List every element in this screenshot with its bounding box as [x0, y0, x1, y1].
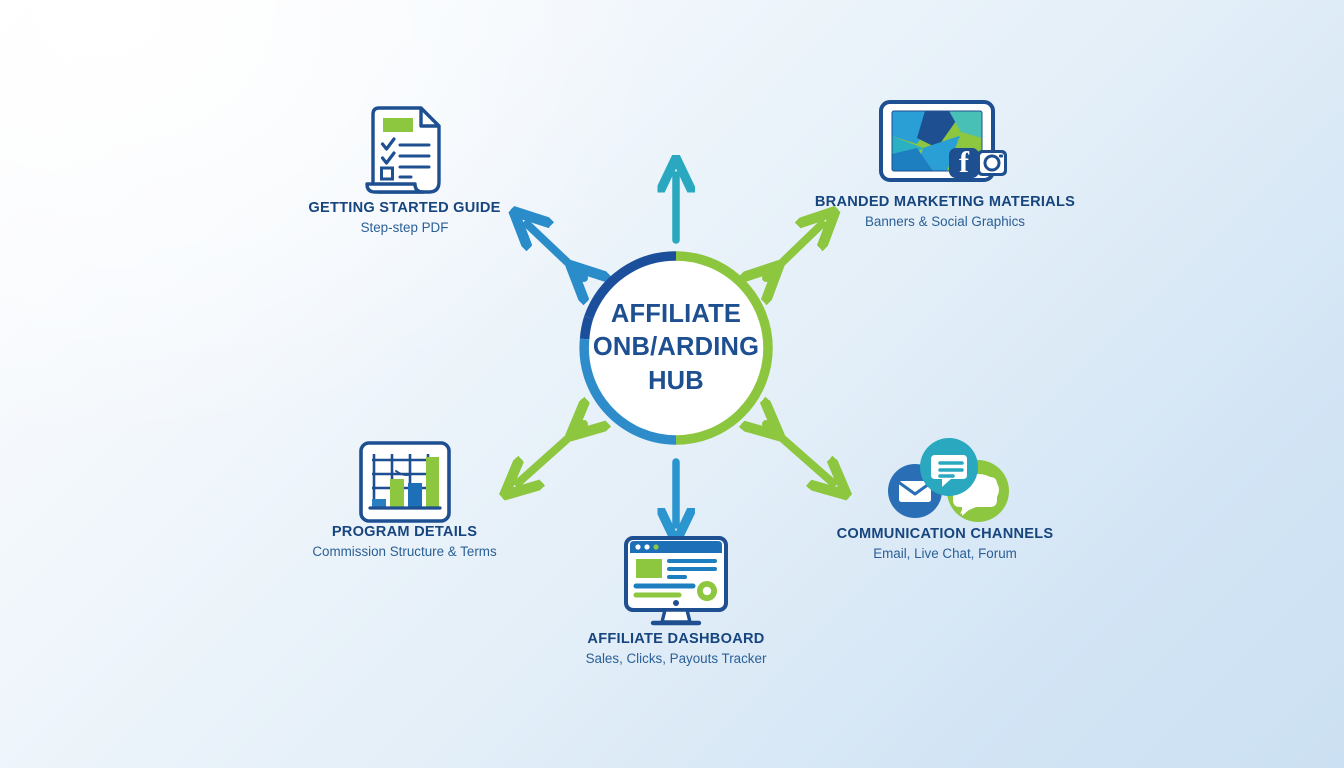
- hub-line-1: AFFILIATE: [611, 298, 741, 331]
- bar-chart-icon: [358, 440, 452, 524]
- node-affiliate-dashboard[interactable]: AFFILIATE DASHBOARD Sales, Clicks, Payou…: [556, 533, 796, 666]
- node-subtitle: Banners & Social Graphics: [800, 214, 1090, 229]
- email-chat-bubbles-icon: [878, 434, 1012, 526]
- email-chat-bubbles-icon-wrap: [820, 434, 1070, 526]
- node-title: GETTING STARTED GUIDE: [238, 200, 571, 216]
- node-getting-started-guide[interactable]: GETTING STARTED GUIDE Step-step PDF: [238, 100, 571, 235]
- desktop-monitor-dashboard-icon: [617, 533, 735, 631]
- hub-label: AFFILIATE ONB/ARDING HUB: [575, 247, 777, 449]
- node-title: PROGRAM DETAILS: [238, 524, 571, 540]
- hub-line-3: HUB: [648, 365, 704, 398]
- bar-chart-icon-wrap: [238, 440, 571, 524]
- node-subtitle: Email, Live Chat, Forum: [820, 546, 1070, 561]
- tablet-social-media-icon-wrap: f: [800, 96, 1090, 194]
- svg-text:f: f: [959, 146, 970, 179]
- node-subtitle: Sales, Clicks, Payouts Tracker: [556, 651, 796, 666]
- hub-line-2: ONB/ARDING: [593, 331, 759, 364]
- diagram-canvas: AFFILIATE ONB/ARDING HUB GETTING STARTED…: [0, 0, 1344, 768]
- affiliate-onboarding-hub[interactable]: AFFILIATE ONB/ARDING HUB: [575, 247, 777, 449]
- node-title: BRANDED MARKETING MATERIALS: [800, 194, 1090, 210]
- document-checklist-icon-wrap: [238, 100, 571, 200]
- desktop-monitor-dashboard-icon-wrap: [556, 533, 796, 631]
- node-subtitle: Step-step PDF: [238, 220, 571, 235]
- node-program-details[interactable]: PROGRAM DETAILS Commission Structure & T…: [238, 440, 571, 559]
- node-title: AFFILIATE DASHBOARD: [556, 631, 796, 647]
- node-subtitle: Commission Structure & Terms: [238, 544, 571, 559]
- document-checklist-icon: [359, 100, 451, 200]
- node-branded-marketing-materials[interactable]: f BRANDED MARKETING MATERIALS Banners & …: [800, 96, 1090, 229]
- node-title: COMMUNICATION CHANNELS: [820, 526, 1070, 542]
- node-communication-channels[interactable]: COMMUNICATION CHANNELS Email, Live Chat,…: [820, 434, 1070, 561]
- tablet-social-media-icon: f: [877, 96, 1013, 194]
